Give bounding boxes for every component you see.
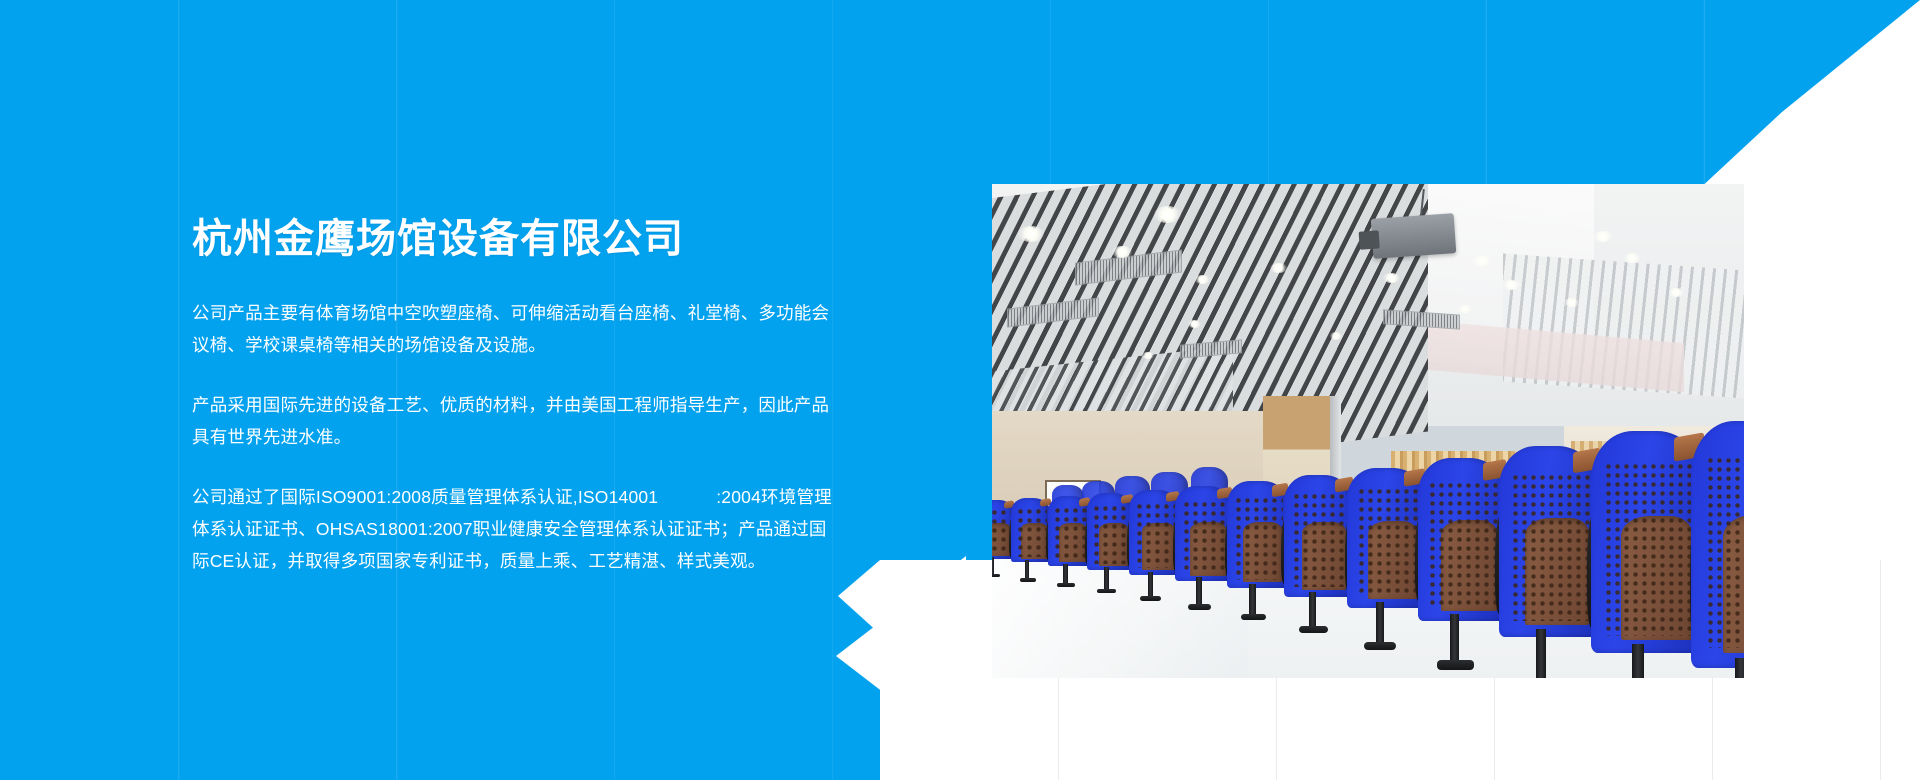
auditorium-photo: 礼堂座椅实景图 xyxy=(992,184,1744,678)
company-text-column: 杭州金鹰场馆设备有限公司 公司产品主要有体育场馆中空吹塑座椅、可伸缩活动看台座椅… xyxy=(192,215,832,577)
downlight-12 xyxy=(1669,288,1684,297)
company-products-paragraph: 公司产品主要有体育场馆中空吹塑座椅、可伸缩活动看台座椅、礼堂椅、多功能会议椅、学… xyxy=(192,297,832,361)
downlight-11 xyxy=(1564,298,1579,307)
downlight-13 xyxy=(1458,305,1472,313)
downlight-9 xyxy=(1594,231,1612,242)
downlight-7 xyxy=(1383,273,1400,283)
cert-text-part-1: 公司通过了国际ISO9001:2008质量管理体系认证,ISO14001 xyxy=(192,487,658,507)
seat-11 xyxy=(1499,446,1601,637)
seat-4 xyxy=(1087,493,1134,570)
seat-8 xyxy=(1284,475,1355,597)
seat-6 xyxy=(1175,486,1232,581)
seat-3 xyxy=(1048,496,1092,566)
seat-7 xyxy=(1227,481,1290,588)
downlight-10 xyxy=(1624,253,1641,263)
downlight-2 xyxy=(1154,206,1181,223)
seat-10 xyxy=(1418,458,1508,621)
downlight-4 xyxy=(1270,263,1287,273)
company-title: 杭州金鹰场馆设备有限公司 xyxy=(192,215,832,263)
company-quality-paragraph: 产品采用国际先进的设备工艺、优质的材料，并由美国工程师指导生产，因此产品具有世界… xyxy=(192,389,832,453)
downlight-14 xyxy=(1188,320,1202,328)
auditorium-photo-scene: 礼堂座椅实景图 xyxy=(992,184,1744,678)
seat-9 xyxy=(1347,468,1427,608)
company-certifications-paragraph: 公司通过了国际ISO9001:2008质量管理体系认证,ISO14001:200… xyxy=(192,481,832,577)
seat-5 xyxy=(1129,490,1181,575)
downlight-1 xyxy=(1018,226,1044,242)
seat-2 xyxy=(1011,498,1052,562)
downlight-3 xyxy=(1112,246,1132,258)
seat-12 xyxy=(1591,431,1707,653)
downlight-16 xyxy=(1330,332,1342,339)
banner-stage: 杭州金鹰场馆设备有限公司 公司产品主要有体育场馆中空吹塑座椅、可伸缩活动看台座椅… xyxy=(0,0,1920,780)
seat-13 xyxy=(1691,421,1744,668)
ceiling-projector xyxy=(1370,213,1455,258)
